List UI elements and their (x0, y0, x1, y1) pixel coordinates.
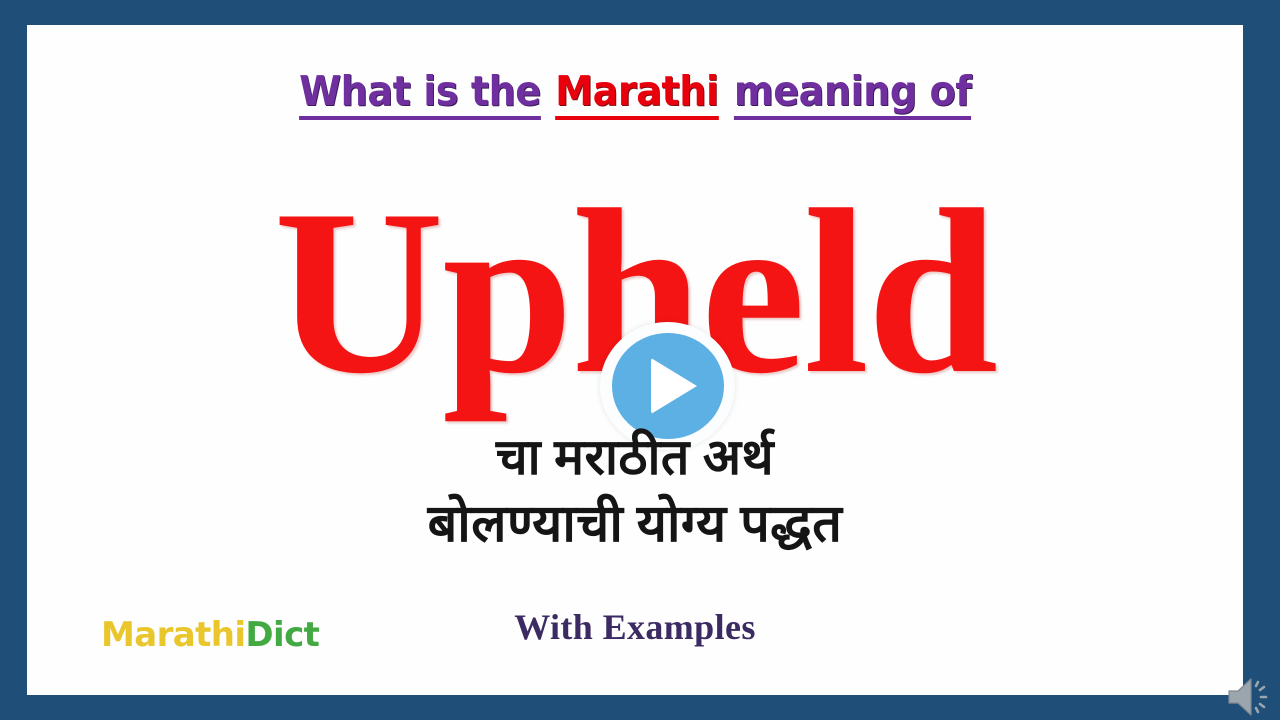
brand-logo-part-a: Marathi (101, 615, 245, 655)
headline-segment-suffix: meaning of (734, 70, 971, 120)
slide-content-panel: What is the Marathi meaning of Upheld चा… (27, 25, 1243, 695)
headline-segment-language: Marathi (556, 70, 719, 120)
brand-logo-part-b: Dict (245, 615, 319, 655)
marathi-translation-block: चा मराठीत अर्थ बोलण्याची योग्य पद्धत (27, 429, 1243, 554)
marathi-line-1: चा मराठीत अर्थ (27, 429, 1243, 485)
headline-segment-prefix: What is the (299, 70, 541, 120)
speaker-volume-icon[interactable] (1225, 674, 1273, 720)
slide-root: What is the Marathi meaning of Upheld चा… (0, 0, 1280, 720)
page-title: What is the Marathi meaning of (27, 70, 1243, 120)
brand-logo: MarathiDict (101, 615, 319, 655)
marathi-line-2: बोलण्याची योग्य पद्धत (27, 495, 1243, 554)
play-triangle-icon (651, 358, 697, 414)
play-icon (612, 333, 724, 439)
